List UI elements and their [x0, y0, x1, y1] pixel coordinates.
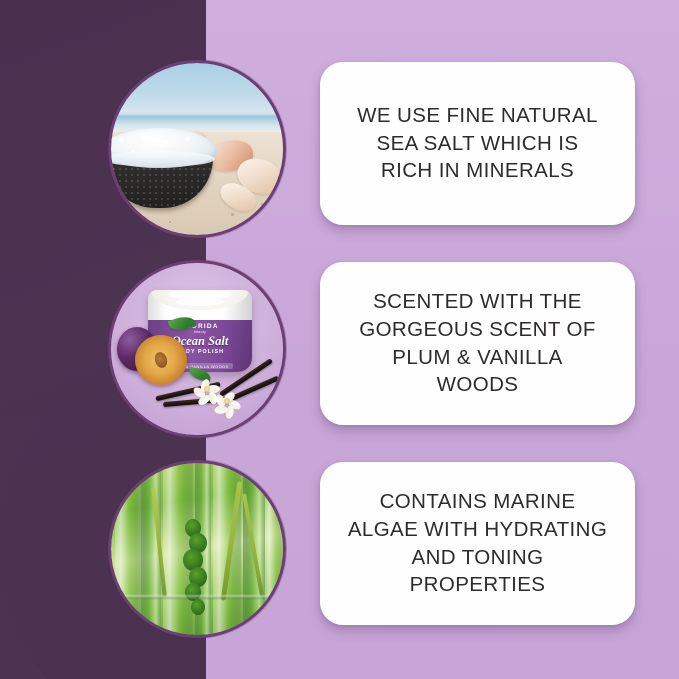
- water-surface: [111, 595, 283, 599]
- benefit-image-marine-algae: [108, 460, 286, 638]
- benefit-text-line: RICH IN MINERALS: [357, 157, 598, 185]
- flower-center: [224, 398, 230, 404]
- benefit-text-line: GORGEOUS SCENT OF: [359, 316, 596, 344]
- label-brand: FLORIDA: [148, 323, 252, 330]
- benefit-text-sea-salt: WE USE FINE NATURAL SEA SALT WHICH IS RI…: [357, 102, 598, 186]
- benefit-card-scent: SCENTED WITH THE GORGEOUS SCENT OF PLUM …: [320, 262, 635, 425]
- benefit-text-marine-algae: CONTAINS MARINE ALGAE WITH HYDRATING AND…: [348, 488, 607, 600]
- plum-pit: [153, 351, 169, 370]
- benefit-text-line: PROPERTIES: [348, 571, 607, 599]
- sea-salt-photo: [111, 63, 283, 235]
- benefit-card-marine-algae: CONTAINS MARINE ALGAE WITH HYDRATING AND…: [320, 462, 635, 625]
- algae-stalk: [265, 463, 283, 635]
- benefit-image-sea-salt: [108, 60, 286, 238]
- benefit-text-line: ALGAE WITH HYDRATING: [348, 516, 607, 544]
- sea-horizon: [111, 115, 283, 130]
- algae-cluster: [191, 599, 205, 615]
- salt-grain: [185, 137, 190, 142]
- salt-grain: [141, 134, 147, 139]
- benefit-card-sea-salt: WE USE FINE NATURAL SEA SALT WHICH IS RI…: [320, 62, 635, 225]
- benefit-text-scent: SCENTED WITH THE GORGEOUS SCENT OF PLUM …: [359, 288, 596, 400]
- benefit-text-line: CONTAINS MARINE: [348, 488, 607, 516]
- infographic-root: FLORIDA beauty Ocean Salt BODY POLISH PL…: [0, 0, 679, 679]
- vanilla-flower: [215, 389, 239, 413]
- benefit-image-product-jar: FLORIDA beauty Ocean Salt BODY POLISH PL…: [108, 260, 286, 438]
- cream-swirl: [176, 298, 224, 306]
- flower-center: [204, 386, 210, 392]
- benefit-text-line: WE USE FINE NATURAL: [357, 102, 598, 130]
- benefit-text-line: SEA SALT WHICH IS: [357, 130, 598, 158]
- benefit-text-line: PLUM & VANILLA: [359, 344, 596, 372]
- sand-speck: [169, 221, 171, 223]
- product-jar-photo: FLORIDA beauty Ocean Salt BODY POLISH PL…: [111, 263, 283, 435]
- algae-stalk: [115, 463, 141, 635]
- whipped-cream-top: [152, 290, 248, 310]
- benefit-text-line: AND TONING: [348, 544, 607, 572]
- marine-algae-photo: [111, 463, 283, 635]
- salt-grain: [163, 140, 168, 144]
- salt-grain: [119, 138, 124, 142]
- plum-half: [135, 335, 187, 385]
- label-brand-sub: beauty: [148, 330, 252, 334]
- benefit-text-line: WOODS: [359, 371, 596, 399]
- bowl-rim: [111, 151, 215, 167]
- sand-speck: [261, 203, 264, 206]
- sand-speck: [231, 213, 234, 216]
- benefit-text-line: SCENTED WITH THE: [359, 288, 596, 316]
